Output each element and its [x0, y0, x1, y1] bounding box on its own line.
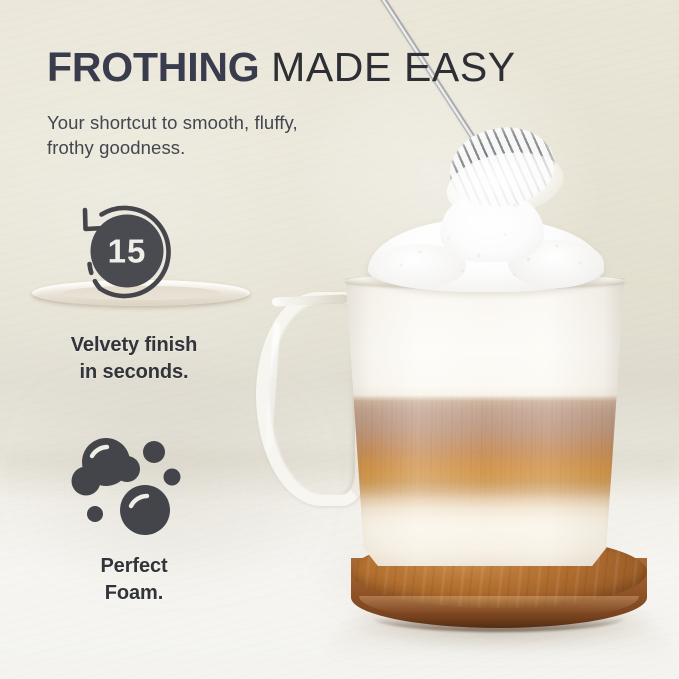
promo-image: FROTHING MADE EASY Your shortcut to smoo…	[0, 0, 679, 679]
page-title: FROTHING MADE EASY	[47, 44, 516, 90]
feature-caption-foam-line-1: Perfect	[24, 553, 244, 580]
feature-velvety-finish: 15 Velvety finish in seconds.	[24, 196, 244, 386]
feature-caption-timer-line-1: Velvety finish	[24, 332, 244, 359]
feature-caption-timer-line-2: in seconds.	[24, 359, 244, 386]
timer-icon-slot: 15	[59, 196, 209, 318]
background-highlight	[300, 60, 640, 320]
headline-bold: FROTHING	[47, 44, 260, 90]
foam-bubbles-icon	[59, 425, 209, 541]
bubbles-icon-slot	[59, 425, 209, 541]
timer-15-seconds-icon: 15	[59, 196, 209, 318]
headline-light: MADE EASY	[271, 44, 516, 90]
subtitle: Your shortcut to smooth, fluffy, frothy …	[47, 110, 387, 160]
subtitle-line-1: Your shortcut to smooth, fluffy,	[47, 110, 387, 135]
subtitle-line-2: frothy goodness.	[47, 135, 387, 160]
feature-perfect-foam: Perfect Foam.	[24, 425, 244, 607]
feature-caption-foam: Perfect Foam.	[24, 553, 244, 607]
timer-value: 15	[108, 233, 147, 270]
feature-caption-foam-line-2: Foam.	[24, 580, 244, 607]
feature-caption-timer: Velvety finish in seconds.	[24, 332, 244, 386]
